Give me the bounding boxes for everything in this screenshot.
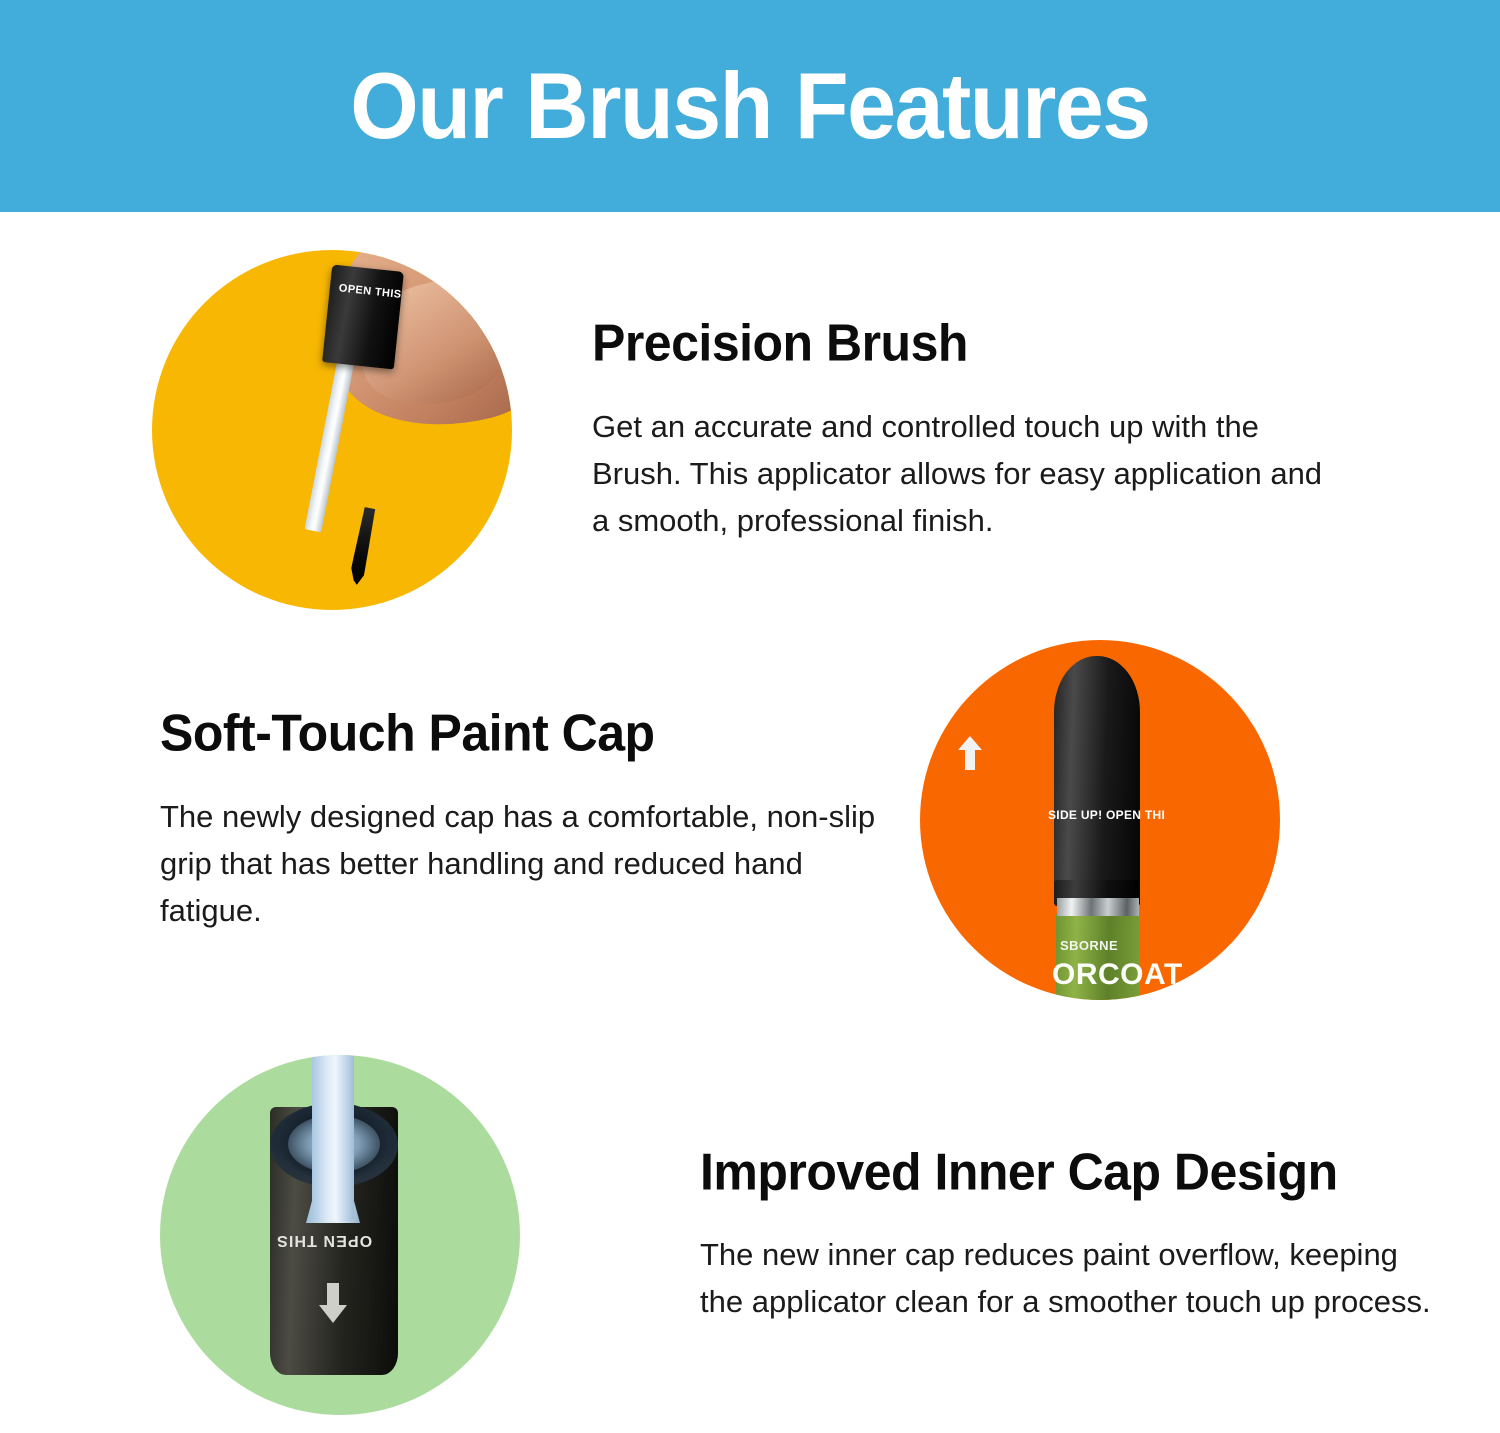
black-cap-shape: [1054, 656, 1140, 904]
brush-bristles-shape: [348, 507, 377, 586]
feature-heading: Improved Inner Cap Design: [700, 1145, 1460, 1200]
cap-label-text: OPEN THIS: [338, 282, 402, 301]
inner-cap-photo: OPEN THIS: [160, 1055, 520, 1415]
feature-heading: Precision Brush: [592, 316, 1352, 371]
applicator-stem-shape: [305, 356, 355, 532]
brush-applicator-photo: OPEN THIS: [152, 250, 512, 610]
black-cap-shape: OPEN THIS: [322, 265, 404, 370]
feature-body: The new inner cap reduces paint overflow…: [700, 1231, 1440, 1325]
feature-row-soft-touch-paint-cap: SIDE UP! OPEN THI SBORNE ORCOAT Soft-Tou…: [0, 640, 1440, 1000]
metal-collar-shape: [1057, 898, 1139, 916]
feature-row-precision-brush: OPEN THIS Precision Brush Get an accurat…: [0, 250, 1440, 610]
paint-cap-photo: SIDE UP! OPEN THI SBORNE ORCOAT: [920, 640, 1280, 1000]
bottle-product-text: ORCOAT: [1052, 958, 1183, 992]
feature-row-improved-inner-cap-design: OPEN THIS Improved Inner Cap Design The …: [0, 1055, 1440, 1415]
header-banner: Our Brush Features: [0, 0, 1500, 212]
page-title: Our Brush Features: [350, 59, 1149, 152]
cap-label-text: SIDE UP! OPEN THI: [1048, 808, 1148, 822]
arrow-down-icon: [318, 1283, 348, 1328]
feature-text-precision-brush: Precision Brush Get an accurate and cont…: [592, 316, 1352, 544]
feature-body: Get an accurate and controlled touch up …: [592, 403, 1332, 544]
feature-text-improved-inner-cap-design: Improved Inner Cap Design The new inner …: [700, 1145, 1460, 1326]
cap-label-text: OPEN THIS: [276, 1231, 372, 1249]
applicator-stem-shape: [312, 1055, 354, 1221]
bottle-brand-text: SBORNE: [1060, 938, 1118, 953]
feature-body: The newly designed cap has a comfortable…: [160, 793, 900, 934]
feature-text-soft-touch-paint-cap: Soft-Touch Paint Cap The newly designed …: [160, 706, 920, 934]
feature-heading: Soft-Touch Paint Cap: [160, 706, 920, 761]
